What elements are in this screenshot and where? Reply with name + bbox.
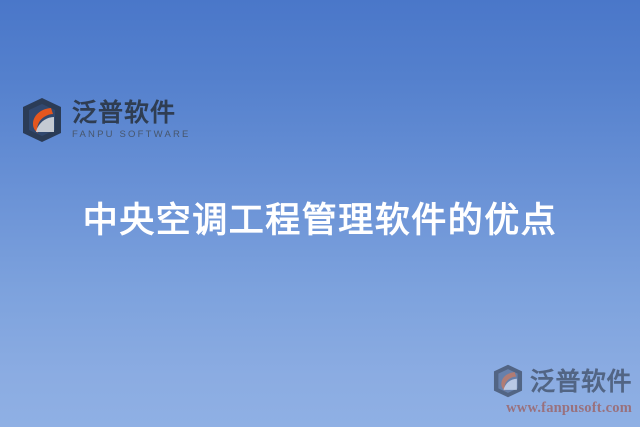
watermark: 泛普软件 www.fanpusoft.com — [482, 364, 632, 417]
fanpu-shield-logo-icon — [20, 97, 64, 143]
brand-name-cn: 泛普软件 — [72, 100, 191, 125]
fanpu-shield-logo-icon — [491, 364, 525, 398]
brand-text-block: 泛普软件 FANPU SOFTWARE — [72, 100, 191, 140]
watermark-url: www.fanpusoft.com — [482, 400, 632, 417]
watermark-brand-name: 泛普软件 — [530, 369, 632, 394]
brand-logo: 泛普软件 FANPU SOFTWARE — [20, 97, 191, 143]
poster-canvas: 泛普软件 FANPU SOFTWARE 中央空调工程管理软件的优点 泛普软件 w… — [0, 0, 640, 427]
page-title: 中央空调工程管理软件的优点 — [0, 199, 640, 243]
brand-name-en: FANPU SOFTWARE — [72, 130, 191, 140]
watermark-brand-row: 泛普软件 — [482, 364, 632, 398]
